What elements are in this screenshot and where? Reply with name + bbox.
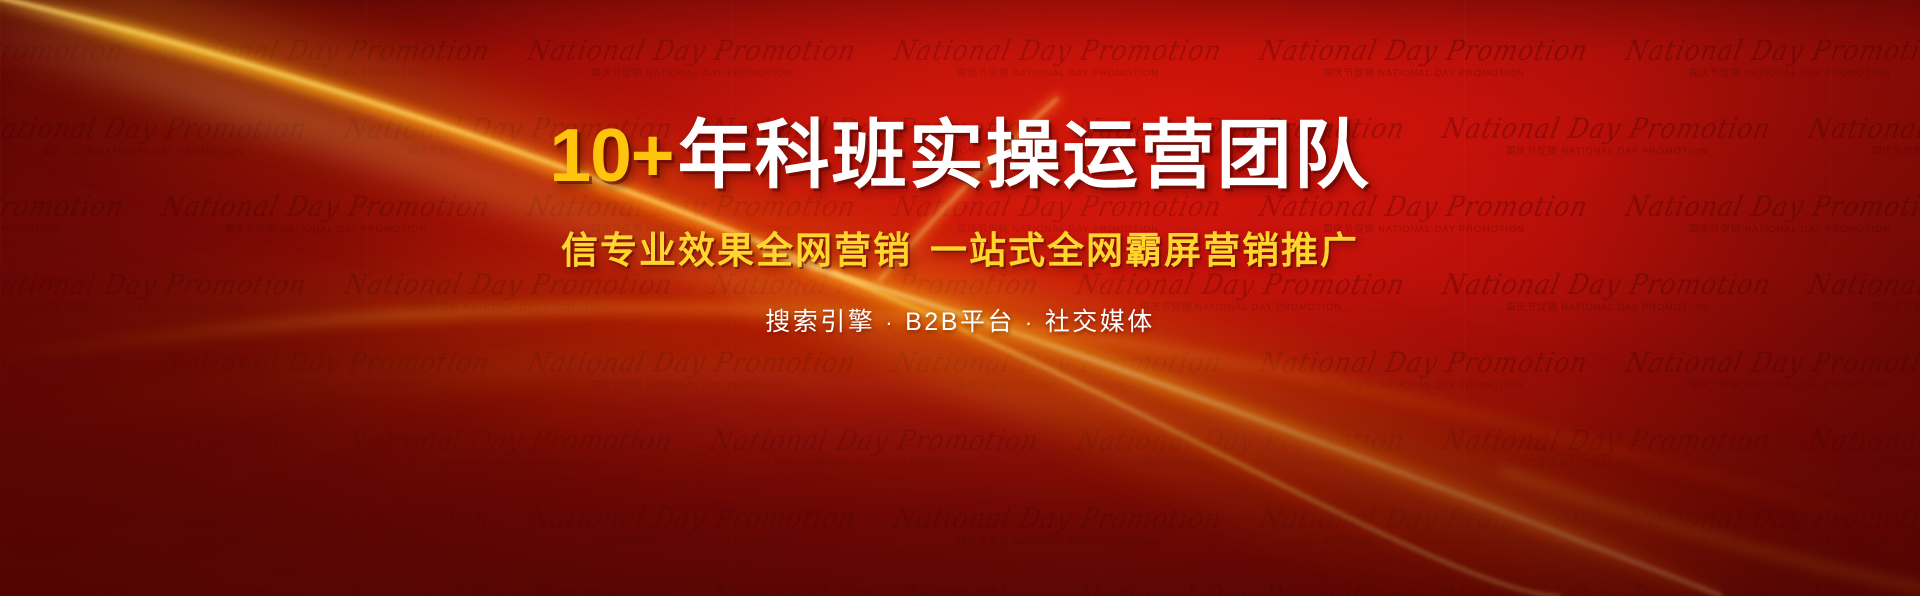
headline: 10+年科班实操运营团队 — [549, 118, 1370, 193]
headline-text: 年科班实操运营团队 — [678, 113, 1371, 197]
headline-number: 10+ — [549, 113, 673, 197]
subline-right: 一站式全网霸屏营销推广 — [930, 230, 1359, 271]
promo-banner: National Day Promotion国庆节促销 NATIONAL DAY… — [0, 0, 1920, 596]
banner-content: 10+年科班实操运营团队 信专业效果全网营销一站式全网霸屏营销推广 搜索引擎·B… — [0, 0, 1920, 596]
subline-left: 信专业效果全网营销 — [561, 230, 912, 271]
tagline-item-social-media: 社交媒体 — [1045, 308, 1155, 336]
tagline-item-b2b-platform: B2B平台 — [905, 308, 1015, 336]
subline: 信专业效果全网营销一站式全网霸屏营销推广 — [561, 220, 1359, 274]
tagline-separator-2: · — [1025, 310, 1035, 336]
tagline: 搜索引擎·B2B平台·社交媒体 — [765, 302, 1154, 338]
tagline-separator-1: · — [885, 310, 895, 336]
tagline-item-search-engine: 搜索引擎 — [765, 308, 875, 336]
